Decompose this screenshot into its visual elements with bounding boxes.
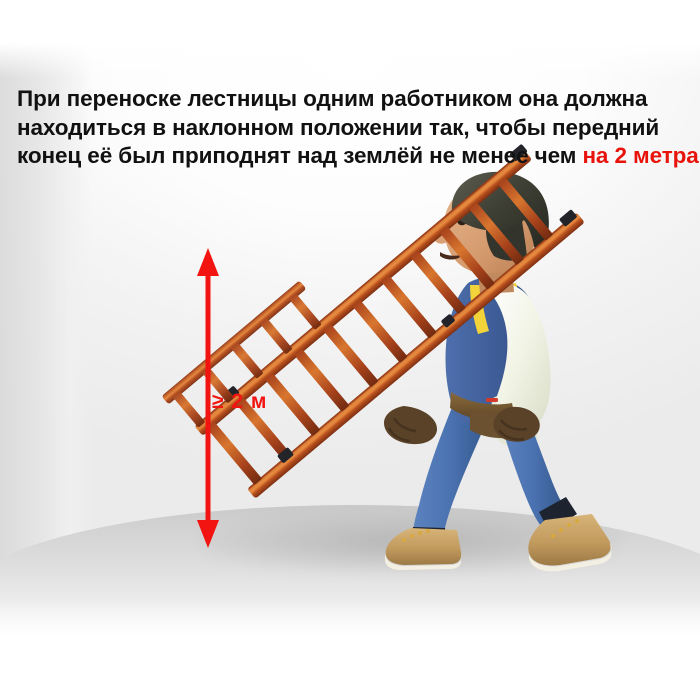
- background-bottom-fade: [0, 600, 700, 700]
- headline-line-1: При переноске лестницы одним работником …: [17, 85, 685, 114]
- headline-line-3: конец её был приподнят над землёй не мен…: [17, 142, 685, 171]
- headline-line-3-text: конец её был приподнят над землёй не мен…: [17, 143, 582, 168]
- worker-back-boot: [385, 528, 461, 570]
- page-title: При переноске лестницы одним работником …: [17, 85, 685, 171]
- dimension-label: ≥ 2 м: [212, 390, 267, 414]
- headline-line-2: находиться в наклонном положении так, чт…: [17, 114, 685, 143]
- safety-poster: При переноске лестницы одним работником …: [0, 0, 700, 700]
- headline-highlight: на 2 метра: [582, 143, 698, 168]
- worker-rear-glove: [384, 406, 437, 444]
